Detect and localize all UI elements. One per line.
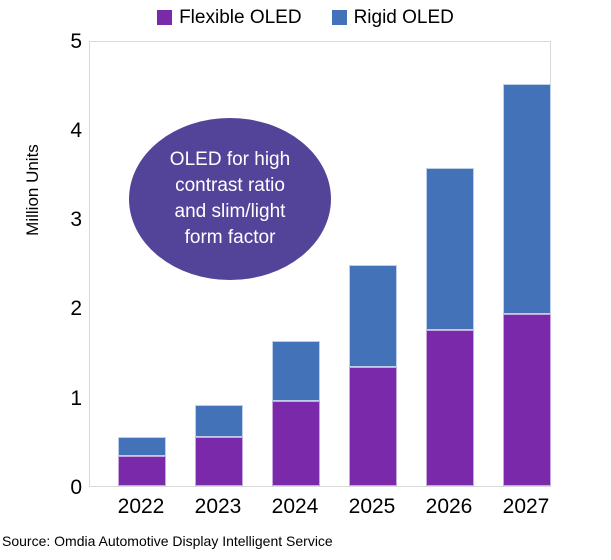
legend-label-rigid-oled: Rigid OLED — [354, 8, 454, 27]
legend-item-flexible-oled: Flexible OLED — [157, 8, 302, 27]
bar-segment-rigid-2022[interactable] — [118, 437, 166, 456]
y-axis-ticks: 5 4 3 2 1 0 — [48, 0, 82, 560]
oled-benefit-callout: OLED for high contrast ratio and slim/li… — [129, 118, 331, 280]
bar-segment-flexible-2023[interactable] — [195, 437, 243, 486]
chart-figure: Flexible OLED Rigid OLED Million Units 5… — [0, 0, 611, 560]
bar-series-container — [90, 42, 550, 486]
callout-line-4: form factor — [185, 227, 276, 248]
callout-text: OLED for high contrast ratio and slim/li… — [156, 147, 304, 251]
bar-segment-flexible-2027[interactable] — [503, 314, 551, 486]
plot-area — [89, 41, 551, 487]
y-axis-title: Million Units — [23, 95, 43, 285]
callout-line-3: and slim/light — [175, 201, 286, 222]
y-tick-5: 5 — [56, 31, 82, 52]
x-axis-ticks: 2022 2023 2024 2025 2026 2027 — [89, 495, 551, 529]
legend-item-rigid-oled: Rigid OLED — [332, 8, 454, 27]
y-tick-1: 1 — [56, 388, 82, 409]
bar-segment-rigid-2027[interactable] — [503, 84, 551, 314]
callout-line-2: contrast ratio — [175, 175, 285, 196]
y-tick-2: 2 — [56, 298, 82, 319]
bar-segment-rigid-2026[interactable] — [426, 168, 474, 330]
source-note: Source: Omdia Automotive Display Intelli… — [2, 532, 333, 550]
bar-segment-flexible-2025[interactable] — [349, 367, 397, 486]
bar-segment-rigid-2024[interactable] — [272, 341, 320, 401]
chart-legend: Flexible OLED Rigid OLED — [0, 2, 611, 32]
bar-segment-flexible-2026[interactable] — [426, 330, 474, 486]
x-tick-2027: 2027 — [481, 495, 571, 519]
callout-line-1: OLED for high — [170, 149, 290, 170]
bar-segment-flexible-2022[interactable] — [118, 456, 166, 486]
legend-label-flexible-oled: Flexible OLED — [179, 8, 302, 27]
y-tick-3: 3 — [56, 209, 82, 230]
legend-swatch-rigid-oled — [332, 10, 347, 25]
bar-segment-flexible-2024[interactable] — [272, 401, 320, 486]
y-tick-4: 4 — [56, 120, 82, 141]
y-tick-0: 0 — [56, 477, 82, 498]
legend-swatch-flexible-oled — [157, 10, 172, 25]
bar-segment-rigid-2023[interactable] — [195, 405, 243, 437]
bar-segment-rigid-2025[interactable] — [349, 265, 397, 367]
